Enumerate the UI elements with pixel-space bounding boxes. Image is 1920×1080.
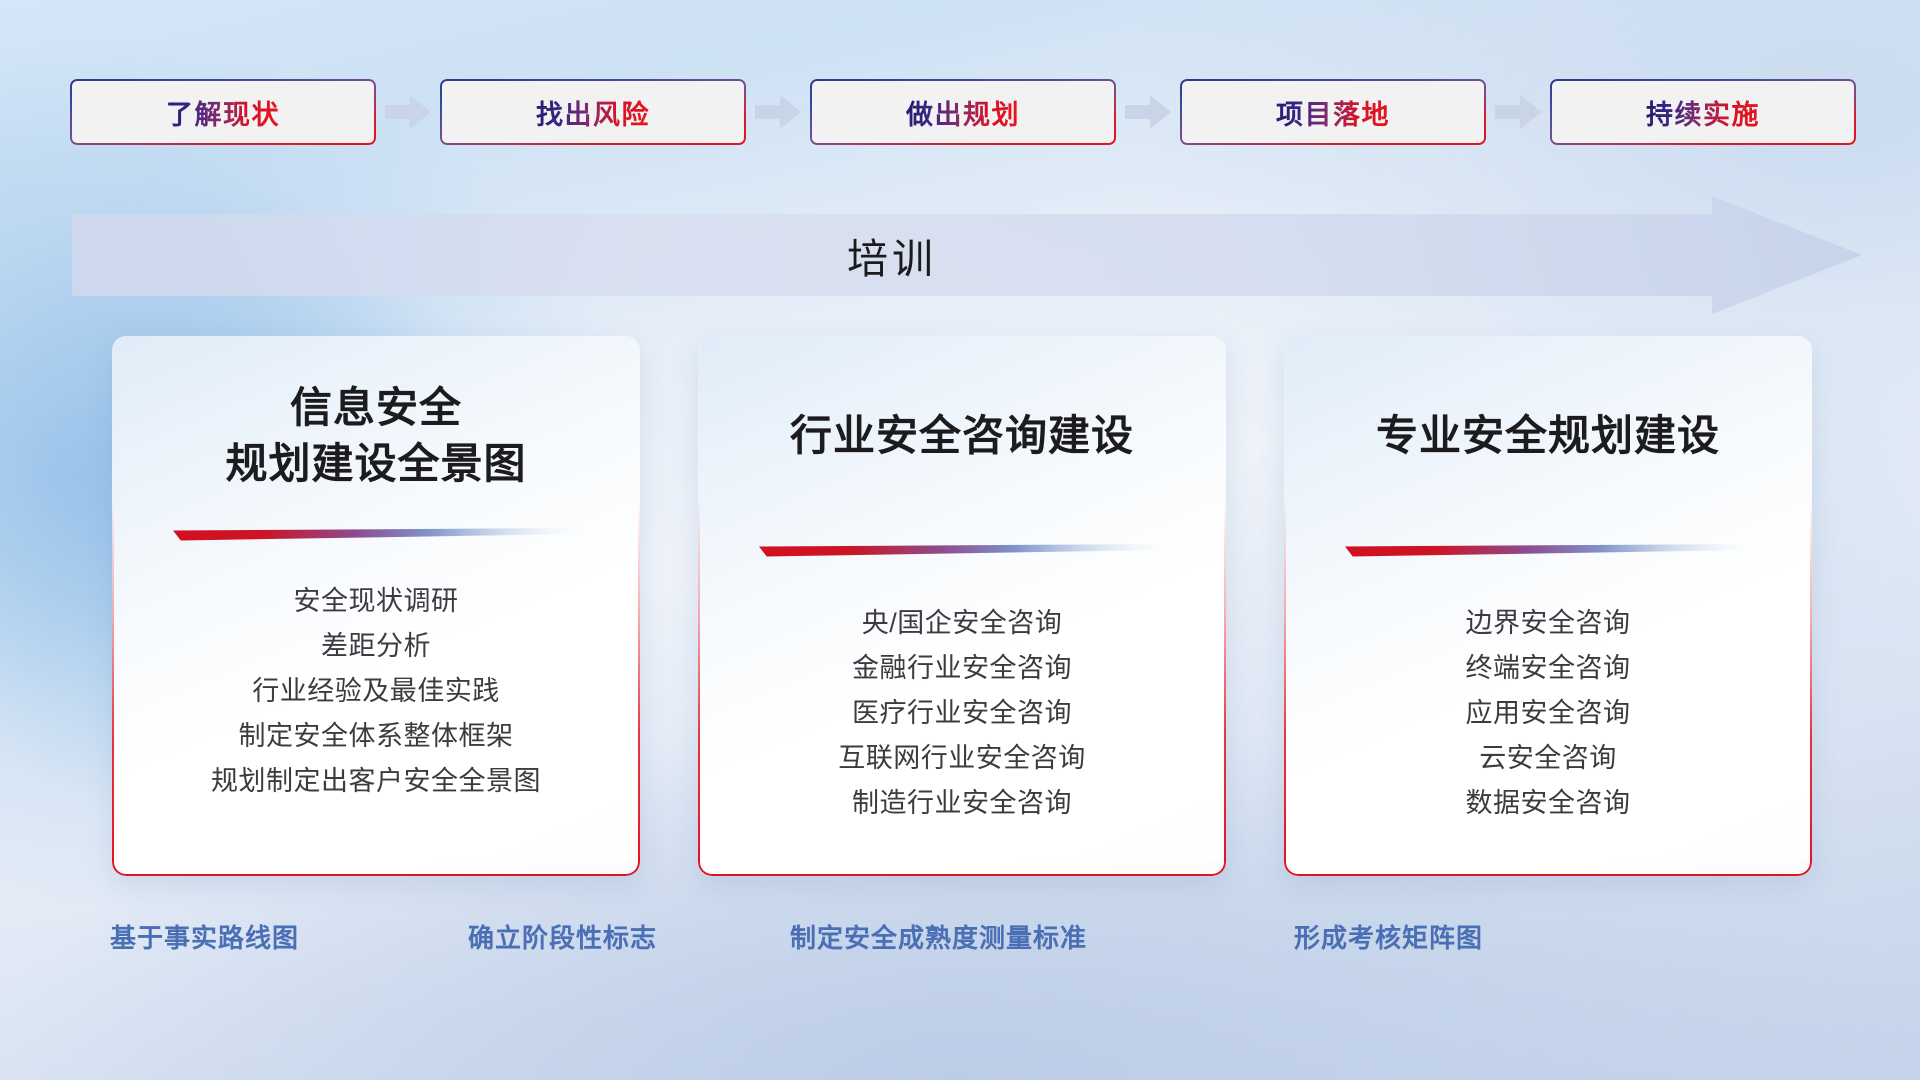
list-item[interactable]: 终端安全咨询 [1312,646,1784,691]
gradient-underline-icon [759,544,1165,557]
footnote-label-1: 基于事实路线图 [110,918,299,955]
list-item[interactable]: 差距分析 [140,624,612,669]
step-arrow-2 [746,95,810,129]
step-box-2[interactable]: 找出风险 [440,79,746,145]
list-item[interactable]: 数据安全咨询 [1312,781,1784,826]
card-divider-3 [1345,544,1751,557]
step-label-3: 做出规划 [906,93,1020,132]
list-item[interactable]: 金融行业安全咨询 [726,646,1198,691]
step-box-1[interactable]: 了解现状 [70,79,376,145]
step-label-5: 持续实施 [1646,93,1760,132]
card-divider-2 [759,544,1165,557]
list-item[interactable]: 央/国企安全咨询 [726,601,1198,646]
card-row: 信息安全 规划建设全景图安全现状调研差距分析行业经验及最佳实践制定安全体系整体框… [112,336,1812,876]
content-card-1[interactable]: 信息安全 规划建设全景图安全现状调研差距分析行业经验及最佳实践制定安全体系整体框… [112,336,640,876]
footnote-label-3: 制定安全成熟度测量标准 [790,918,1087,955]
card-title-1: 信息安全 规划建设全景图 [140,380,612,492]
card-title-3: 专业安全规划建设 [1312,408,1784,464]
content-card-2[interactable]: 行业安全咨询建设央/国企安全咨询金融行业安全咨询医疗行业安全咨询互联网行业安全咨… [698,336,1226,876]
step-label-2: 找出风险 [536,93,650,132]
gradient-underline-icon [1345,544,1751,557]
footnote-label-2: 确立阶段性标志 [468,918,657,955]
list-item[interactable]: 医疗行业安全咨询 [726,691,1198,736]
chevron-right-arrow-icon [1125,95,1171,129]
step-arrow-4 [1486,95,1550,129]
card-list-2: 央/国企安全咨询金融行业安全咨询医疗行业安全咨询互联网行业安全咨询制造行业安全咨… [726,601,1198,826]
card-title-2: 行业安全咨询建设 [726,408,1198,464]
list-item[interactable]: 制造行业安全咨询 [726,781,1198,826]
chevron-right-arrow-icon [385,95,431,129]
list-item[interactable]: 边界安全咨询 [1312,601,1784,646]
list-item[interactable]: 云安全咨询 [1312,736,1784,781]
step-arrow-1 [376,95,440,129]
footnote-label-4: 形成考核矩阵图 [1294,918,1483,955]
chevron-right-arrow-icon [755,95,801,129]
chevron-right-arrow-icon [1495,95,1541,129]
list-item[interactable]: 行业经验及最佳实践 [140,669,612,714]
card-list-1: 安全现状调研差距分析行业经验及最佳实践制定安全体系整体框架规划制定出客户安全全景… [140,579,612,804]
list-item[interactable]: 互联网行业安全咨询 [726,736,1198,781]
gradient-underline-icon [173,528,579,541]
footnote-row: 基于事实路线图确立阶段性标志制定安全成熟度测量标准形成考核矩阵图 [0,918,1920,964]
card-divider-1 [173,528,579,541]
step-arrow-3 [1116,95,1180,129]
list-item[interactable]: 应用安全咨询 [1312,691,1784,736]
process-step-row: 了解现状找出风险做出规划项目落地持续实施 [70,78,1860,146]
content-card-3[interactable]: 专业安全规划建设边界安全咨询终端安全咨询应用安全咨询云安全咨询数据安全咨询 [1284,336,1812,876]
step-box-5[interactable]: 持续实施 [1550,79,1856,145]
training-banner: 培训 [72,196,1862,314]
step-box-4[interactable]: 项目落地 [1180,79,1486,145]
training-label: 培训 [72,196,1712,314]
step-box-3[interactable]: 做出规划 [810,79,1116,145]
card-list-3: 边界安全咨询终端安全咨询应用安全咨询云安全咨询数据安全咨询 [1312,601,1784,826]
list-item[interactable]: 安全现状调研 [140,579,612,624]
step-label-4: 项目落地 [1276,93,1390,132]
list-item[interactable]: 规划制定出客户安全全景图 [140,759,612,804]
list-item[interactable]: 制定安全体系整体框架 [140,714,612,759]
step-label-1: 了解现状 [166,93,280,132]
